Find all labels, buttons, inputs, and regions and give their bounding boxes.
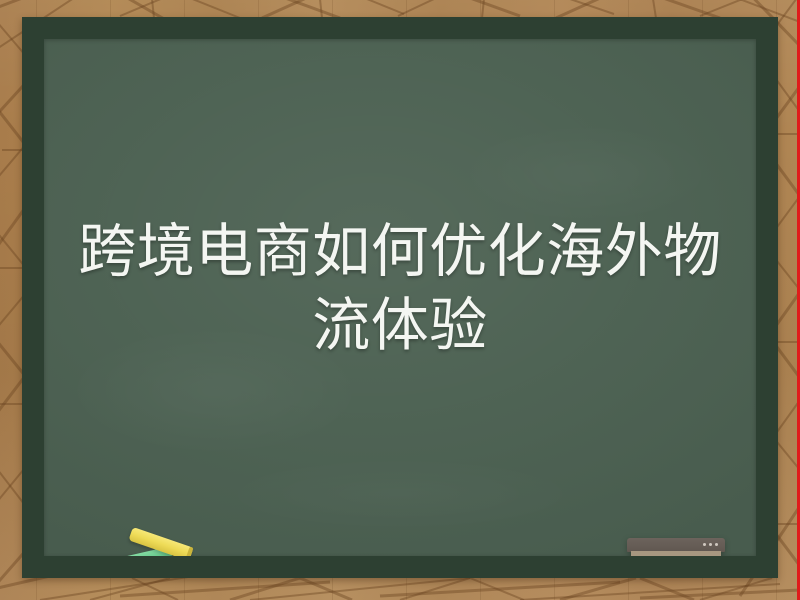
blackboard-surface: 跨境电商如何优化海外物流体验 — [44, 39, 756, 556]
eraser-band — [631, 551, 721, 556]
board-eraser[interactable] — [627, 538, 725, 556]
blackboard-frame: 跨境电商如何优化海外物流体验 — [22, 17, 778, 578]
eraser-dots-icon — [703, 543, 718, 546]
yellow-chalk-tip — [185, 546, 193, 556]
blackboard-scene: 跨境电商如何优化海外物流体验 — [0, 0, 800, 600]
eraser-handle — [627, 538, 725, 552]
page-title: 跨境电商如何优化海外物流体验 — [44, 215, 756, 363]
yellow-chalk[interactable] — [128, 527, 193, 556]
